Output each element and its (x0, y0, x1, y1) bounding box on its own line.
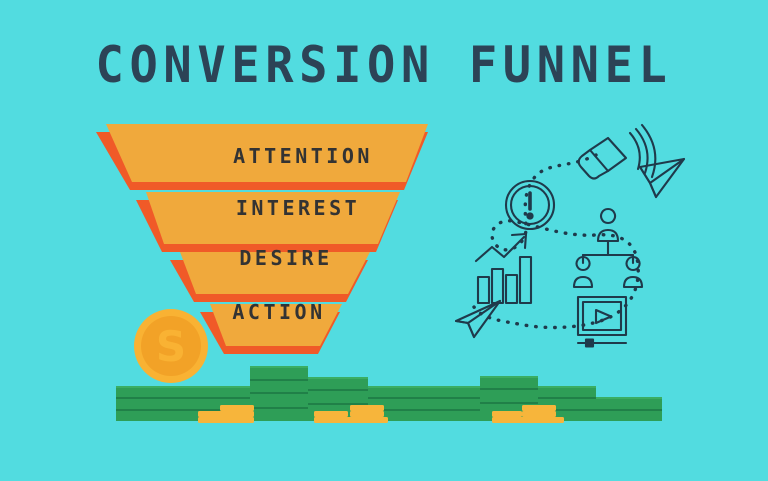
conversion-funnel-infographic: CONVERSION FUNNEL ATTE (0, 0, 768, 481)
paper-plane-icon (456, 301, 500, 337)
exclamation-circle-icon (506, 181, 554, 229)
bar-chart-growth-icon (476, 234, 531, 303)
funnel-label-desire: DESIRE (188, 246, 384, 270)
money-stacks (110, 355, 670, 435)
cash-bundles (116, 366, 662, 421)
page-title: CONVERSION FUNNEL (23, 36, 745, 94)
user-network-icon (574, 209, 642, 287)
megaphone-icon (579, 125, 656, 179)
funnel-label-attention: ATTENTION (188, 144, 418, 168)
marketing-icon-cluster (440, 125, 705, 355)
funnel-label-interest: INTEREST (188, 196, 408, 220)
funnel-label-action: ACTION (188, 300, 370, 324)
